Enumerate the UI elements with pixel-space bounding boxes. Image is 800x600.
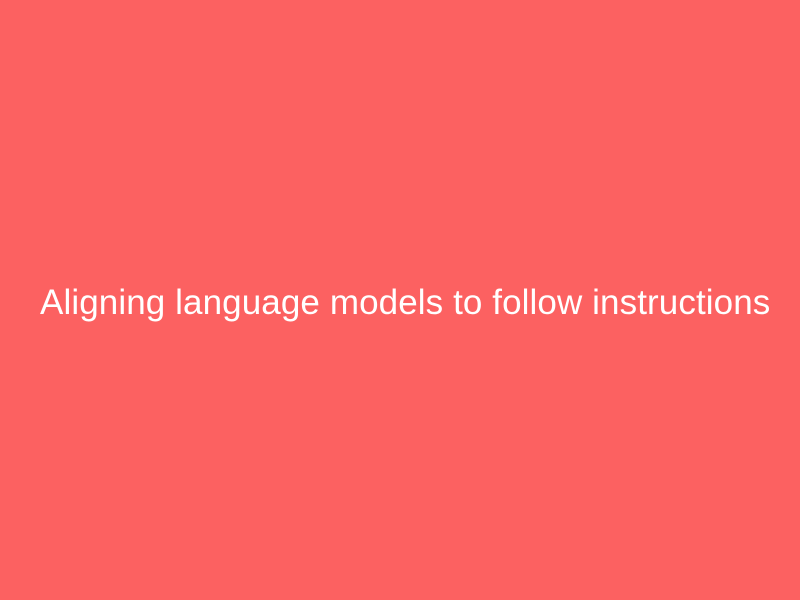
title-card: Aligning language models to follow instr… xyxy=(0,0,800,600)
page-title: Aligning language models to follow instr… xyxy=(40,281,760,325)
headline-block: Aligning language models to follow instr… xyxy=(40,281,760,325)
